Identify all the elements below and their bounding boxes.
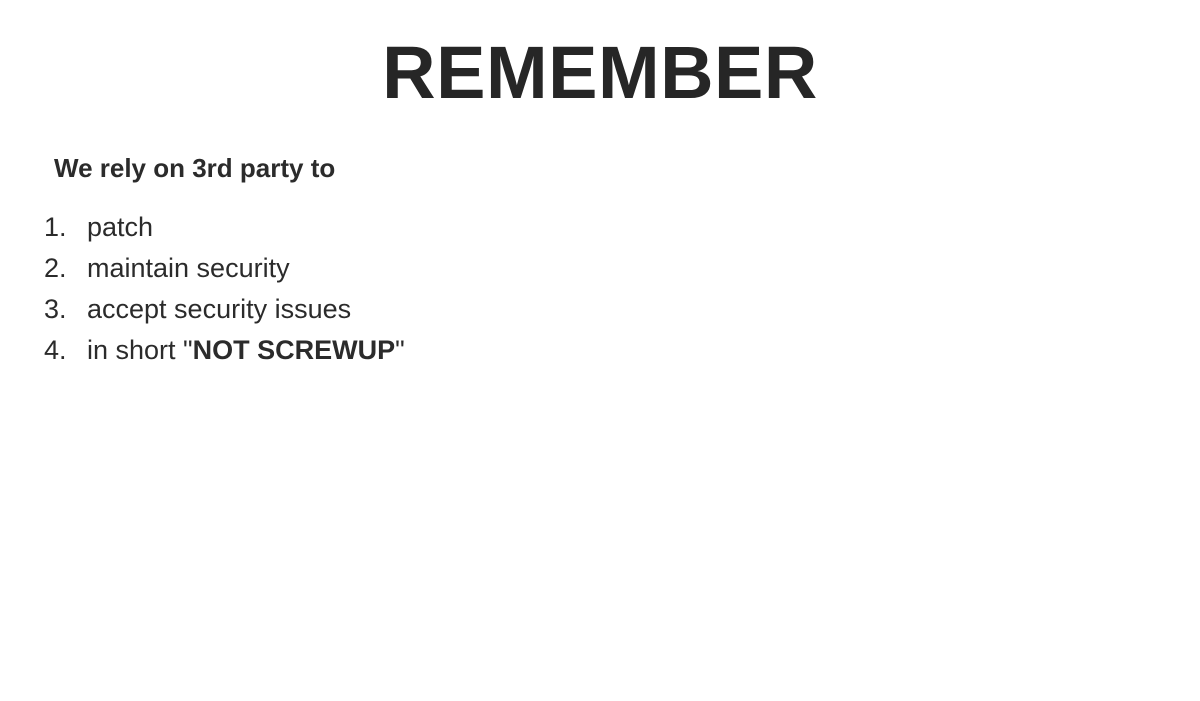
list-item-marker: 1. [44, 207, 87, 248]
list-item-text: accept security issues [87, 294, 351, 324]
list-item-suffix: " [395, 335, 405, 365]
list-item-emphasis: NOT SCREWUP [193, 335, 396, 365]
numbered-list: 1.patch 2.maintain security 3.accept sec… [44, 207, 405, 371]
list-item-marker: 3. [44, 289, 87, 330]
list-item-marker: 2. [44, 248, 87, 289]
page-title: REMEMBER [0, 36, 1200, 110]
list-item: 1.patch [44, 207, 405, 248]
slide-subtitle: We rely on 3rd party to [54, 152, 335, 185]
list-item-text: patch [87, 212, 153, 242]
list-item-marker: 4. [44, 330, 87, 371]
list-item: 3.accept security issues [44, 289, 405, 330]
list-item: 2.maintain security [44, 248, 405, 289]
list-item-text: in short " [87, 335, 193, 365]
list-item: 4.in short "NOT SCREWUP" [44, 330, 405, 371]
slide-canvas: REMEMBER We rely on 3rd party to 1.patch… [0, 0, 1200, 701]
list-item-text: maintain security [87, 253, 290, 283]
